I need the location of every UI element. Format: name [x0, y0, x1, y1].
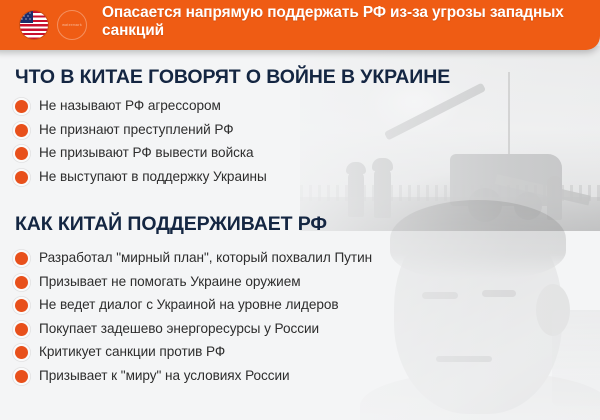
- section-heading-2: КАК КИТАЙ ПОДДЕРЖИВАЕТ РФ: [15, 213, 327, 236]
- bullet-dot-icon: [15, 100, 28, 113]
- bullet-dot-icon: [15, 252, 28, 265]
- list-item: Призывает к "миру" на условиях России: [15, 366, 372, 390]
- list-item: Разработал "мирный план", который похвал…: [15, 248, 372, 272]
- bullet-dot-icon: [15, 370, 28, 383]
- list-item-label: Не называют РФ агрессором: [39, 96, 221, 116]
- section-heading-1: ЧТО В КИТАЕ ГОВОРЯТ О ВОЙНЕ В УКРАИНЕ: [15, 66, 450, 89]
- bullet-dot-icon: [15, 346, 28, 359]
- list-item-label: Не выступают в поддержку Украины: [39, 167, 267, 187]
- list-item-label: Не признают преступлений РФ: [39, 120, 234, 140]
- list-item: Призывает не помогать Украине оружием: [15, 272, 372, 296]
- list-item-label: Покупает задешево энергоресурсы у России: [39, 319, 319, 339]
- list-item: Не называют РФ агрессором: [15, 96, 267, 120]
- list-item-label: Не призывают РФ вывести войска: [39, 143, 254, 163]
- bullet-dot-icon: [15, 147, 28, 160]
- list-item: Не ведет диалог с Украиной на уровне лид…: [15, 295, 372, 319]
- list-item: Не призывают РФ вывести войска: [15, 143, 267, 167]
- list-item-label: Призывает не помогать Украине оружием: [39, 272, 301, 292]
- bullet-list-1: Не называют РФ агрессором Не признают пр…: [15, 96, 267, 190]
- list-item-label: Критикует санкции против РФ: [39, 342, 225, 362]
- list-item-label: Призывает к "миру" на условиях России: [39, 366, 290, 386]
- bullet-dot-icon: [15, 323, 28, 336]
- infographic-page: watermark Опасается напрямую поддержать …: [0, 0, 600, 420]
- bullet-dot-icon: [15, 171, 28, 184]
- list-item: Не выступают в поддержку Украины: [15, 167, 267, 191]
- bullet-dot-icon: [15, 276, 28, 289]
- bullet-dot-icon: [15, 124, 28, 137]
- list-item: Не признают преступлений РФ: [15, 120, 267, 144]
- list-item: Критикует санкции против РФ: [15, 342, 372, 366]
- infographic-content: ЧТО В КИТАЕ ГОВОРЯТ О ВОЙНЕ В УКРАИНЕ Не…: [0, 0, 600, 420]
- list-item-label: Разработал "мирный план", который похвал…: [39, 248, 372, 268]
- list-item-label: Не ведет диалог с Украиной на уровне лид…: [39, 295, 339, 315]
- bullet-list-2: Разработал "мирный план", который похвал…: [15, 248, 372, 389]
- bullet-dot-icon: [15, 299, 28, 312]
- list-item: Покупает задешево энергоресурсы у России: [15, 319, 372, 343]
